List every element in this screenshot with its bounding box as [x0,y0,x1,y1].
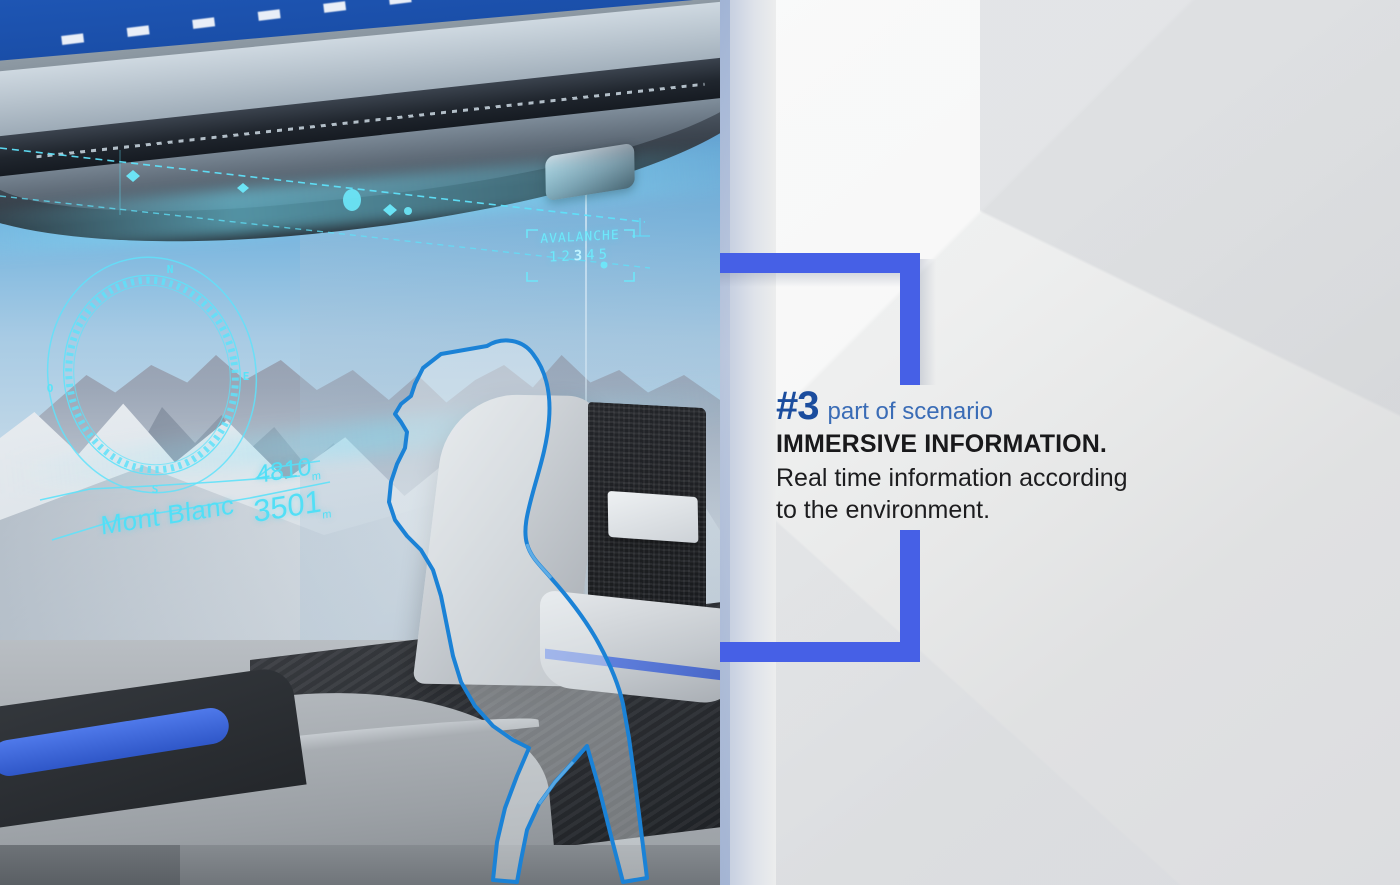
scenario-headline-period: . [1100,430,1107,458]
avalanche-level-2: 2 [561,248,573,265]
avalanche-level-3-active: 3 [574,248,586,265]
altitude-primary-unit: m [312,470,322,483]
avalanche-scale: 12345 [520,245,640,267]
scenario-caption: part of scenario [828,400,993,424]
bracket-right-shadow [920,259,936,385]
info-panel: #3 part of scenario IMMERSIVE INFORMATIO… [720,0,1400,885]
bracket-top-bar [720,253,920,273]
scenario-body-line-1: Real time information according [776,462,1206,494]
scenario-body-line-2: to the environment. [776,494,1206,526]
bracket-bottom-bar [720,642,920,662]
bracket-right-upper [900,253,920,385]
avalanche-level-1: 1 [549,249,561,266]
avalanche-level-5: 5 [599,246,611,263]
bracket-top-shadow [720,273,920,287]
slide-canvas: N E S O [0,0,1400,885]
scenario-headline-text: IMMERSIVE INFORMATION [776,430,1100,458]
scenario-headline: IMMERSIVE INFORMATION. [776,430,1206,460]
avalanche-level-4: 4 [586,247,598,264]
scenario-number: #3 [776,386,819,426]
scenario-heading-row: #3 part of scenario [776,386,1206,426]
seat-headrest [608,491,699,543]
cabin-lower-frame [0,845,720,885]
hud-avalanche-widget: AVALANCHE 12345 [520,227,640,293]
scenario-text-block: #3 part of scenario IMMERSIVE INFORMATIO… [776,386,1206,526]
altitude-secondary-unit: m [322,508,332,521]
cabin-render-image: N E S O [0,0,720,885]
